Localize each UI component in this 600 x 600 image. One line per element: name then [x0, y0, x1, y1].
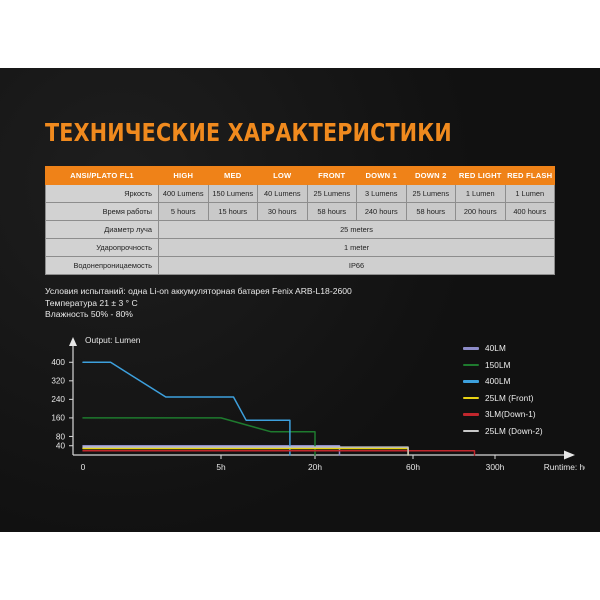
specifications-table: ANSI/PLATO FL1 HIGH MED LOW FRONT DOWN 1… [45, 166, 555, 275]
svg-text:0: 0 [81, 462, 86, 472]
legend-swatch-icon [463, 380, 479, 383]
legend-label: 25LM (Front) [485, 394, 534, 403]
svg-text:80: 80 [56, 432, 66, 441]
row-label: Диаметр луча [46, 221, 159, 239]
legend-label: 150LM [485, 361, 511, 370]
table-header-cell: DOWN 1 [357, 167, 407, 185]
table-cell: 150 Lumens [208, 185, 258, 203]
table-header-cell: DOWN 2 [406, 167, 456, 185]
table-header-cell: ANSI/PLATO FL1 [46, 167, 159, 185]
legend-swatch-icon [463, 364, 479, 367]
table-header-cell: RED LIGHT [456, 167, 506, 185]
table-cell: 30 hours [258, 203, 308, 221]
page-title: ТЕХНИЧЕСКИЕ ХАРАКТЕРИСТИКИ [45, 118, 452, 147]
row-label: Водонепроницаемость [46, 257, 159, 275]
table-cell-merged: IP66 [159, 257, 555, 275]
svg-text:Runtime: hour: Runtime: hour [544, 462, 585, 472]
legend-label: 40LM [485, 344, 506, 353]
table-cell: 1 Lumen [505, 185, 555, 203]
table-header-cell: MED [208, 167, 258, 185]
table-header: ANSI/PLATO FL1 HIGH MED LOW FRONT DOWN 1… [46, 167, 555, 185]
test-conditions-note: Условия испытаний: одна Li-on аккумулято… [45, 286, 352, 321]
legend-swatch-icon [463, 397, 479, 400]
legend-label: 3LM(Down-1) [485, 410, 536, 419]
legend-label: 400LM [485, 377, 511, 386]
table-cell: 58 hours [307, 203, 357, 221]
legend-swatch-icon [463, 347, 479, 350]
row-label: Ударопрочность [46, 239, 159, 257]
table-header-cell: HIGH [159, 167, 209, 185]
table-cell: 400 hours [505, 203, 555, 221]
svg-text:320: 320 [51, 377, 65, 386]
svg-text:Output: Lumen: Output: Lumen [85, 335, 141, 345]
row-label: Яркость [46, 185, 159, 203]
table-cell: 1 Lumen [456, 185, 506, 203]
table-cell: 400 Lumens [159, 185, 209, 203]
legend-item: 25LM (Front) [463, 394, 543, 403]
table-cell: 200 hours [456, 203, 506, 221]
table-cell: 58 hours [406, 203, 456, 221]
legend-label: 25LM (Down-2) [485, 427, 543, 436]
table-row: Ударопрочность 1 meter [46, 239, 555, 257]
table-cell: 40 Lumens [258, 185, 308, 203]
svg-text:400: 400 [51, 358, 65, 367]
table-cell: 240 hours [357, 203, 407, 221]
table-header-cell: RED FLASH [505, 167, 555, 185]
svg-text:40: 40 [56, 442, 66, 451]
legend-item: 150LM [463, 361, 543, 370]
legend-item: 25LM (Down-2) [463, 427, 543, 436]
table-row: Диаметр луча 25 meters [46, 221, 555, 239]
table-header-cell: LOW [258, 167, 308, 185]
table-row: Время работы 5 hours 15 hours 30 hours 5… [46, 203, 555, 221]
svg-text:5h: 5h [216, 462, 226, 472]
table-cell-merged: 25 meters [159, 221, 555, 239]
table-cell: 25 Lumens [406, 185, 456, 203]
legend-swatch-icon [463, 430, 479, 433]
table-body: Яркость 400 Lumens 150 Lumens 40 Lumens … [46, 185, 555, 275]
svg-text:20h: 20h [308, 462, 322, 472]
legend-item: 40LM [463, 344, 543, 353]
table-row: Водонепроницаемость IP66 [46, 257, 555, 275]
legend-swatch-icon [463, 413, 479, 416]
table-cell-merged: 1 meter [159, 239, 555, 257]
legend-item: 3LM(Down-1) [463, 410, 543, 419]
table-cell: 25 Lumens [307, 185, 357, 203]
table-cell: 5 hours [159, 203, 209, 221]
chart-legend: 40LM 150LM 400LM 25LM (Front) 3LM(Down-1… [463, 344, 543, 436]
svg-text:60h: 60h [406, 462, 420, 472]
svg-text:160: 160 [51, 414, 65, 423]
svg-text:240: 240 [51, 395, 65, 404]
table-row: Яркость 400 Lumens 150 Lumens 40 Lumens … [46, 185, 555, 203]
row-label: Время работы [46, 203, 159, 221]
legend-item: 400LM [463, 377, 543, 386]
svg-text:300h: 300h [486, 462, 505, 472]
table-header-row: ANSI/PLATO FL1 HIGH MED LOW FRONT DOWN 1… [46, 167, 555, 185]
table-cell: 15 hours [208, 203, 258, 221]
table-header-cell: FRONT [307, 167, 357, 185]
slide-root: ТЕХНИЧЕСКИЕ ХАРАКТЕРИСТИКИ ANSI/PLATO FL… [0, 0, 600, 600]
table-cell: 3 Lumens [357, 185, 407, 203]
